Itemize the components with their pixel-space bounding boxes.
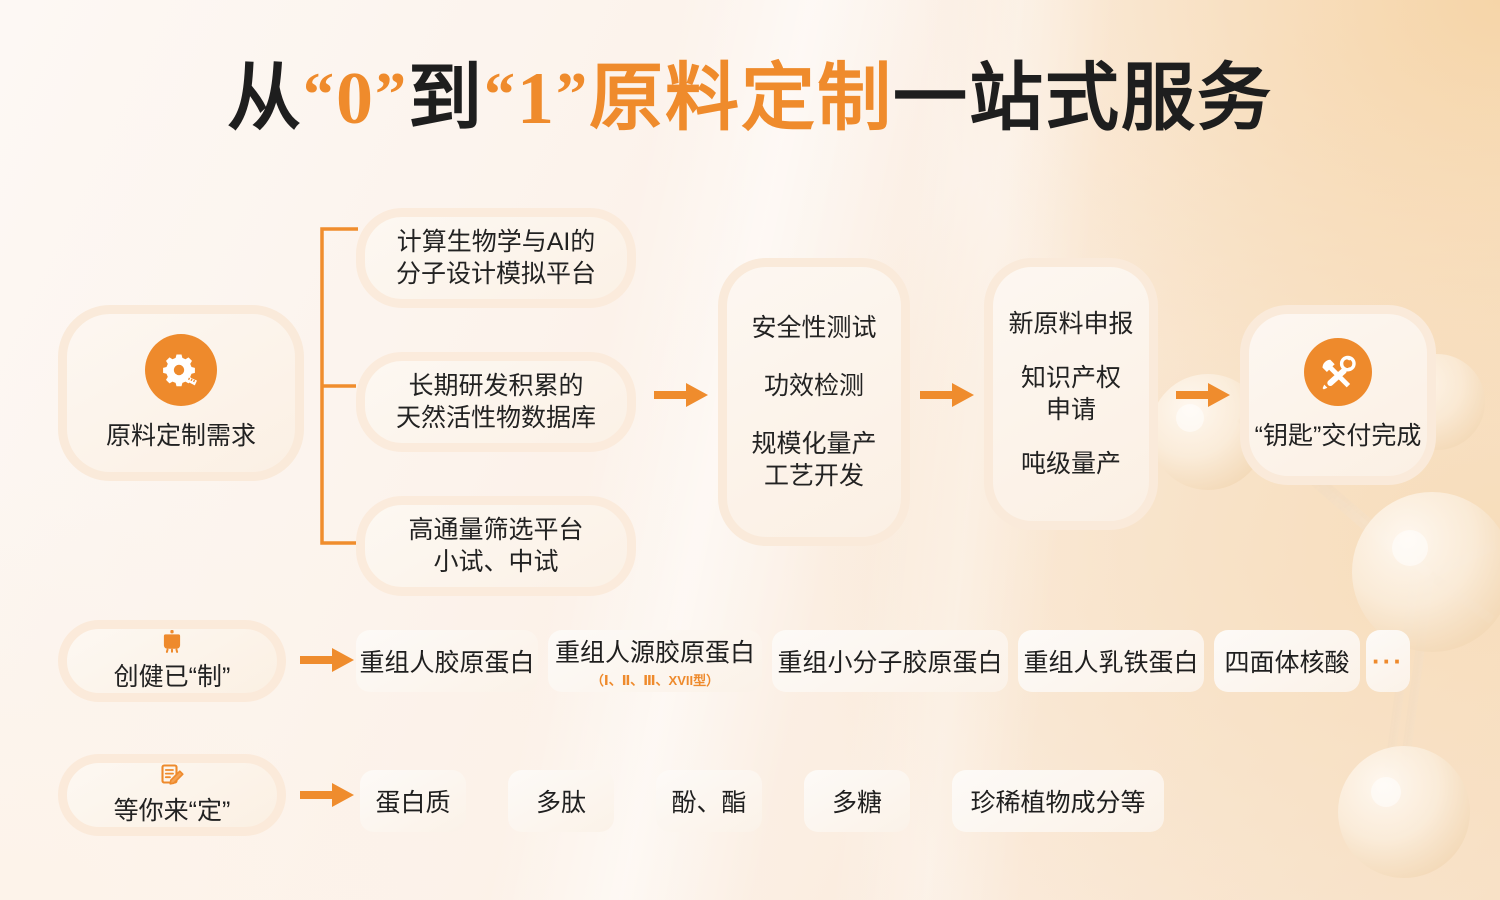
registration-group: 知识产权 申请: [1021, 362, 1121, 426]
chip-more-ellipsis[interactable]: ···: [1366, 630, 1410, 692]
testing-line: 安全性测试: [751, 312, 876, 344]
pill-line: 高通量筛选平台: [408, 514, 583, 547]
chip-label: 重组人胶原蛋白: [359, 643, 534, 679]
card-testing-and-production[interactable]: 安全性测试 功效检测 规模化量产 工艺开发: [718, 258, 910, 546]
row-label-awaiting-custom[interactable]: 等你来“定”: [58, 754, 286, 836]
card-key-delivery-complete[interactable]: “钥匙”交付完成: [1240, 305, 1436, 485]
gear-ruler-icon: [145, 334, 217, 406]
title-quote-open-b: “: [484, 61, 517, 129]
registration-line: 新原料申报: [1008, 308, 1133, 340]
title-segment-1: 从: [227, 58, 303, 140]
card-raw-material-demand[interactable]: 原料定制需求: [58, 305, 304, 481]
wrench-screwdriver-icon: [1304, 338, 1372, 406]
chip-recombinant-humanized-collagen[interactable]: 重组人源胶原蛋白 （Ⅰ、Ⅱ、Ⅲ、XVII型）: [548, 630, 762, 692]
fermenter-tank-icon: [159, 629, 185, 655]
chip-label: 酚、酯: [671, 783, 746, 819]
chip-sublabel: （Ⅰ、Ⅱ、Ⅲ、XVII型）: [591, 670, 719, 689]
row-label-already-made[interactable]: 创健已“制”: [58, 620, 286, 702]
title-segment-3: 原料定制: [589, 58, 893, 140]
registration-line: 吨级量产: [1021, 448, 1121, 480]
chip-tetrahedral-nucleic-acid[interactable]: 四面体核酸: [1214, 630, 1360, 692]
pill-line: 天然活性物数据库: [396, 402, 596, 435]
registration-line: 申请: [1021, 394, 1121, 426]
chip-protein[interactable]: 蛋白质: [360, 770, 466, 832]
testing-line: 规模化量产: [751, 428, 876, 460]
pill-line: 小试、中试: [433, 546, 558, 579]
chip-label: 重组小分子胶原蛋白: [777, 643, 1002, 679]
chip-recombinant-human-lactoferrin[interactable]: 重组人乳铁蛋白: [1018, 630, 1204, 692]
card-raw-material-demand-label: 原料定制需求: [106, 420, 256, 452]
title-segment-4: 一站式服务: [893, 58, 1273, 140]
chip-recombinant-human-collagen[interactable]: 重组人胶原蛋白: [356, 630, 538, 692]
document-pencil-icon: [159, 763, 185, 789]
arrow-right-icon: [300, 780, 356, 810]
chip-polysaccharide[interactable]: 多糖: [804, 770, 910, 832]
chip-label: ···: [1372, 646, 1404, 677]
arrow-right-icon: [654, 380, 710, 410]
chip-label: 蛋白质: [375, 783, 450, 819]
chip-label: 重组人乳铁蛋白: [1023, 643, 1198, 679]
testing-line: 功效检测: [764, 370, 864, 402]
arrow-right-icon: [1176, 380, 1232, 410]
pill-line: 计算生物学与AI的: [397, 226, 596, 259]
chip-phenol-ester[interactable]: 酚、酯: [656, 770, 762, 832]
page-title: 从“0”到“1”原料定制一站式服务: [0, 62, 1500, 136]
chip-label: 多糖: [832, 783, 882, 819]
title-segment-2: 到: [408, 58, 484, 140]
chip-label: 多肽: [536, 783, 586, 819]
card-registration-and-mass-production[interactable]: 新原料申报 知识产权 申请 吨级量产: [984, 258, 1158, 530]
pill-natural-actives-database[interactable]: 长期研发积累的 天然活性物数据库: [356, 352, 636, 452]
pill-line: 长期研发积累的: [408, 370, 583, 403]
pill-line: 分子设计模拟平台: [396, 258, 596, 291]
title-number-zero: 0: [336, 58, 375, 140]
title-quote-open-a: “: [303, 61, 336, 129]
chip-label: 重组人源胶原蛋白: [555, 633, 755, 669]
title-number-one: 1: [517, 58, 556, 140]
chip-peptide[interactable]: 多肽: [508, 770, 614, 832]
title-quote-close-b: ”: [556, 61, 589, 129]
registration-line: 知识产权: [1021, 362, 1121, 394]
chip-label: 珍稀植物成分等: [970, 783, 1145, 819]
testing-group: 规模化量产 工艺开发: [751, 428, 876, 492]
arrow-right-icon: [300, 645, 356, 675]
row-label-already-made-text: 创健已“制”: [114, 657, 231, 693]
title-quote-close-a: ”: [375, 61, 408, 129]
card-key-delivery-label: “钥匙”交付完成: [1255, 420, 1422, 452]
pill-high-throughput-screening[interactable]: 高通量筛选平台 小试、中试: [356, 496, 636, 596]
chip-label: 四面体核酸: [1224, 643, 1349, 679]
pill-computational-biology-platform[interactable]: 计算生物学与AI的 分子设计模拟平台: [356, 208, 636, 308]
row-label-awaiting-custom-text: 等你来“定”: [114, 791, 231, 827]
chip-recombinant-small-molecule-collagen[interactable]: 重组小分子胶原蛋白: [772, 630, 1008, 692]
chip-rare-plant-ingredients[interactable]: 珍稀植物成分等: [952, 770, 1164, 832]
arrow-right-icon: [920, 380, 976, 410]
testing-line: 工艺开发: [751, 460, 876, 492]
